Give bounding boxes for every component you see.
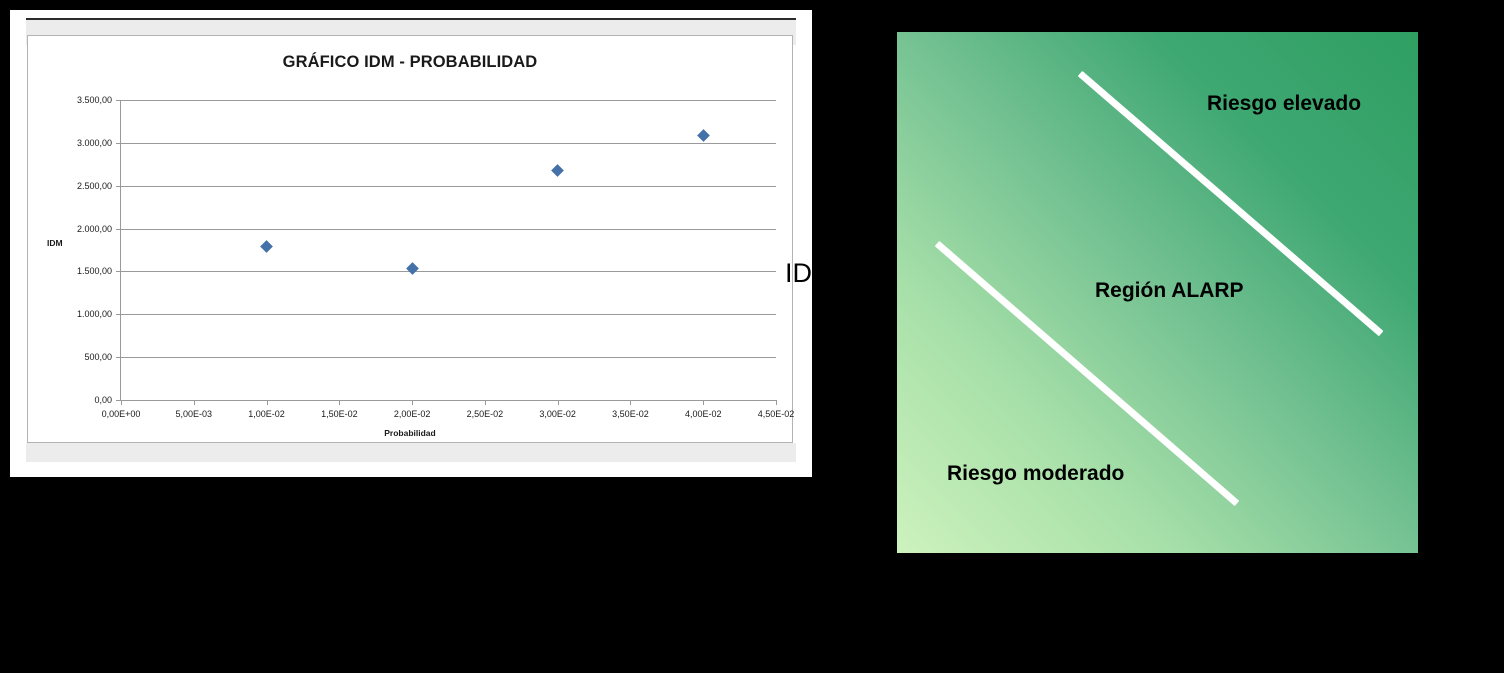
x-tick-label: 4,50E-02 [758, 409, 795, 419]
spreadsheet-chart-window: GRÁFICO IDM - PROBABILIDAD IDM Probabili… [10, 10, 812, 477]
y-tick-mark [116, 229, 121, 230]
y-axis-title: IDM [47, 238, 63, 248]
x-tick-label: 2,50E-02 [467, 409, 504, 419]
x-tick-label: 2,00E-02 [394, 409, 431, 419]
x-tick-label: 5,00E-03 [176, 409, 213, 419]
y-tick-mark [116, 186, 121, 187]
x-axis-title: Probabilidad [28, 428, 792, 438]
y-tick-mark [116, 143, 121, 144]
x-tick-mark [776, 400, 777, 405]
gridline [121, 271, 776, 272]
x-tick-mark [194, 400, 195, 405]
window-footer-band [26, 443, 796, 462]
x-tick-label: 0,00E+00 [102, 409, 141, 419]
x-tick-label: 3,00E-02 [539, 409, 576, 419]
x-tick-mark [339, 400, 340, 405]
y-tick-label: 1.500,00 [77, 266, 112, 276]
alarp-region-label: Región ALARP [1095, 279, 1244, 303]
idm-overflow-label: IDM [785, 258, 835, 289]
x-tick-mark [412, 400, 413, 405]
x-tick-label: 3,50E-02 [612, 409, 649, 419]
x-tick-mark [703, 400, 704, 405]
y-tick-mark [116, 314, 121, 315]
x-tick-mark [485, 400, 486, 405]
gridline [121, 314, 776, 315]
gridline [121, 100, 776, 101]
alarp-region-label: Riesgo elevado [1207, 92, 1361, 116]
gridline [121, 186, 776, 187]
x-tick-mark [630, 400, 631, 405]
gridline [121, 229, 776, 230]
alarp-risk-diagram: Riesgo elevadoRegión ALARPRiesgo moderad… [897, 32, 1418, 553]
x-tick-mark [121, 400, 122, 405]
x-tick-label: 1,50E-02 [321, 409, 358, 419]
y-tick-label: 2.000,00 [77, 224, 112, 234]
y-tick-label: 0,00 [94, 395, 112, 405]
chart-frame[interactable]: GRÁFICO IDM - PROBABILIDAD IDM Probabili… [27, 35, 793, 443]
scatter-point[interactable] [260, 240, 273, 253]
x-tick-mark [558, 400, 559, 405]
x-tick-label: 4,00E-02 [685, 409, 722, 419]
y-tick-mark [116, 271, 121, 272]
y-tick-label: 500,00 [84, 352, 112, 362]
y-tick-label: 1.000,00 [77, 309, 112, 319]
scatter-point[interactable] [697, 129, 710, 142]
scatter-point[interactable] [406, 262, 419, 275]
gridline [121, 143, 776, 144]
x-tick-mark [267, 400, 268, 405]
y-axis-line [120, 100, 121, 401]
gridline [121, 357, 776, 358]
plot-area: 0,00500,001.000,001.500,002.000,002.500,… [121, 100, 776, 400]
y-tick-mark [116, 357, 121, 358]
scatter-point[interactable] [551, 164, 564, 177]
y-tick-mark [116, 100, 121, 101]
chart-title: GRÁFICO IDM - PROBABILIDAD [28, 53, 792, 72]
y-tick-label: 2.500,00 [77, 181, 112, 191]
y-tick-label: 3.500,00 [77, 95, 112, 105]
alarp-region-label: Riesgo moderado [947, 462, 1124, 486]
y-tick-label: 3.000,00 [77, 138, 112, 148]
x-tick-label: 1,00E-02 [248, 409, 285, 419]
gridline [121, 400, 776, 401]
